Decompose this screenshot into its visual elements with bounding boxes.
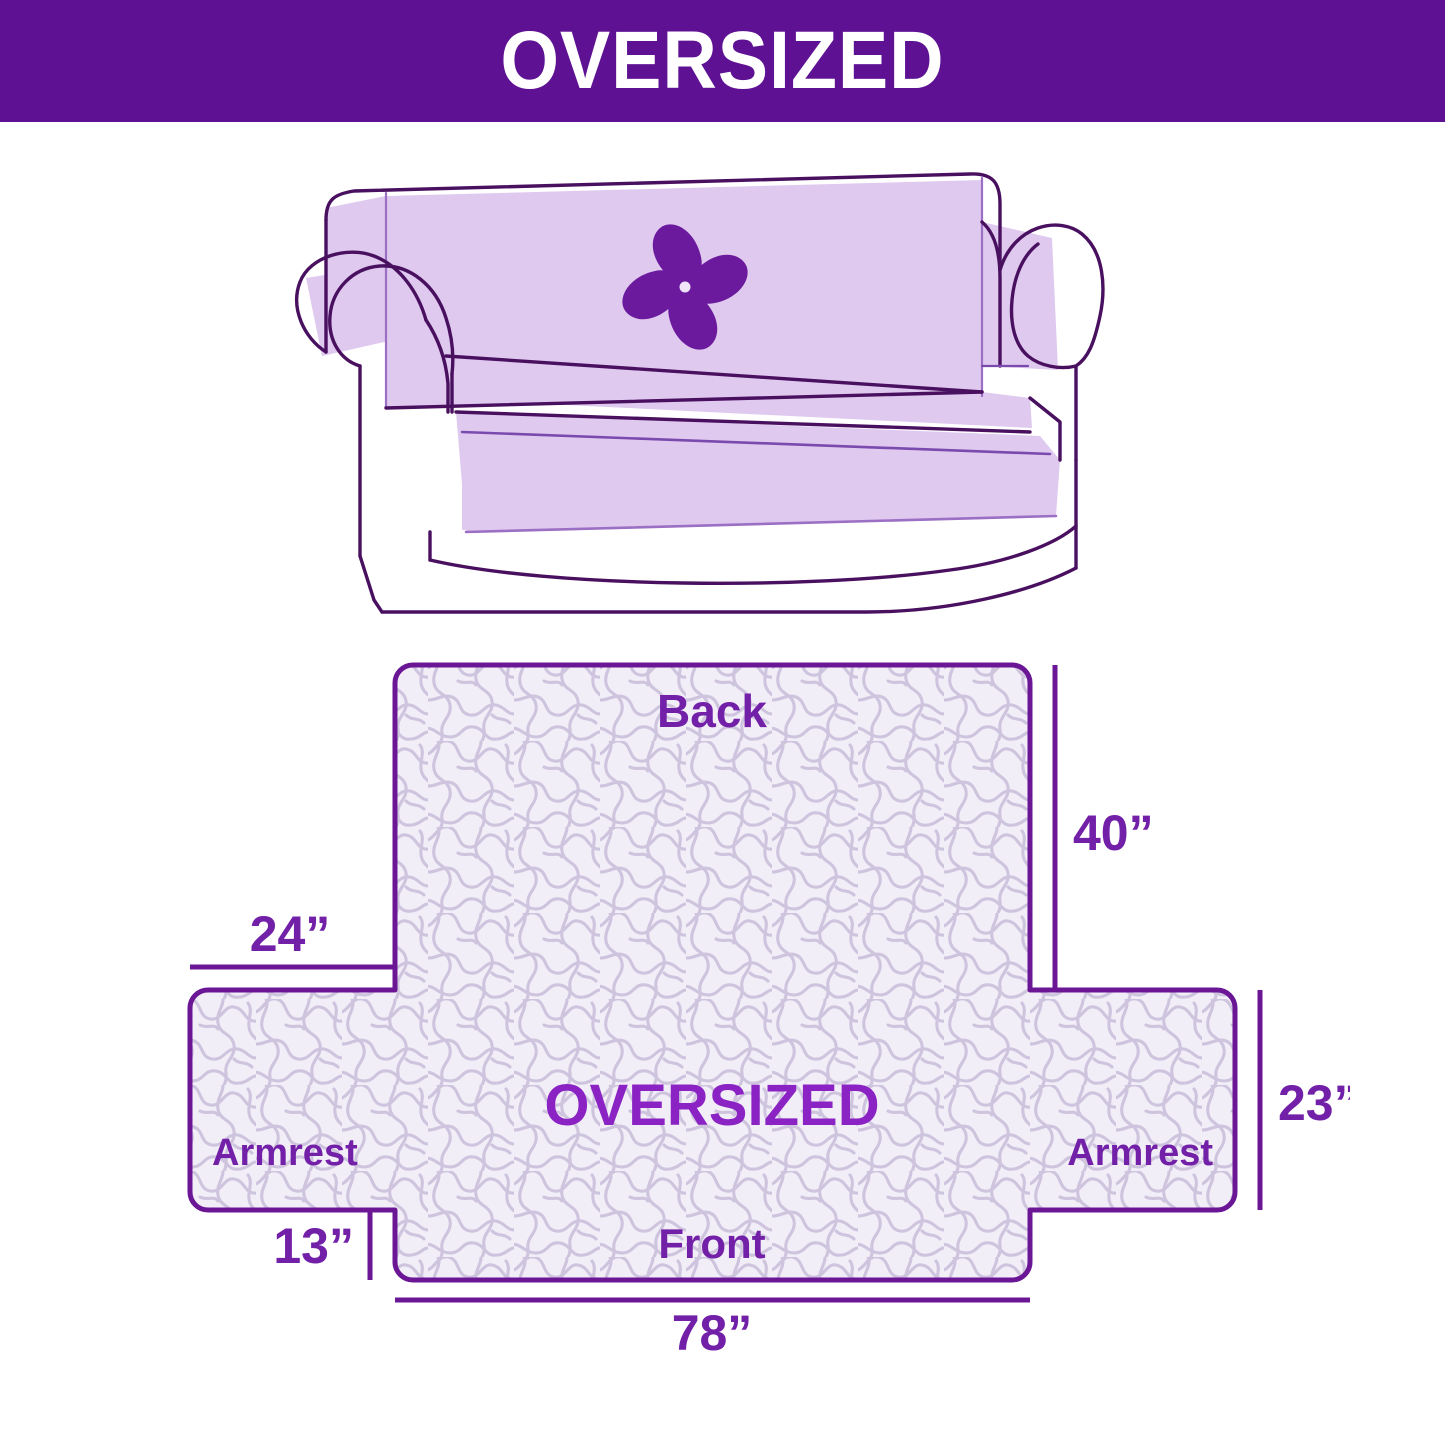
header-banner: OVERSIZED	[0, 0, 1445, 122]
dim-label-back-height: 40”	[1073, 805, 1154, 861]
sofa-base-left	[360, 556, 382, 612]
center-label-oversized: OVERSIZED	[544, 1073, 879, 1138]
page-title: OVERSIZED	[500, 20, 944, 102]
pattern-diagram: Back OVERSIZED Armrest Armrest Front 40”…	[170, 655, 1350, 1355]
panel-label-front: Front	[658, 1220, 765, 1267]
panel-label-armrest-left: Armrest	[212, 1132, 358, 1174]
dim-label-shoulder-width: 24”	[250, 906, 331, 962]
panel-label-armrest-right: Armrest	[1067, 1132, 1213, 1174]
sofa-body	[297, 174, 1103, 612]
sofa-illustration	[270, 160, 1180, 630]
sofa-base-front	[430, 526, 1076, 583]
sofa-base-bottom	[382, 568, 1076, 612]
panel-label-back: Back	[657, 685, 767, 737]
product-infographic: OVERSIZED	[0, 0, 1445, 1445]
dim-label-armrest-height: 23”	[1278, 1075, 1350, 1131]
dim-label-front-drop: 13”	[273, 1218, 354, 1274]
pinwheel-hub	[680, 282, 691, 293]
cover-cross-shape	[190, 665, 1235, 1280]
dim-label-total-width: 78”	[672, 1305, 753, 1355]
